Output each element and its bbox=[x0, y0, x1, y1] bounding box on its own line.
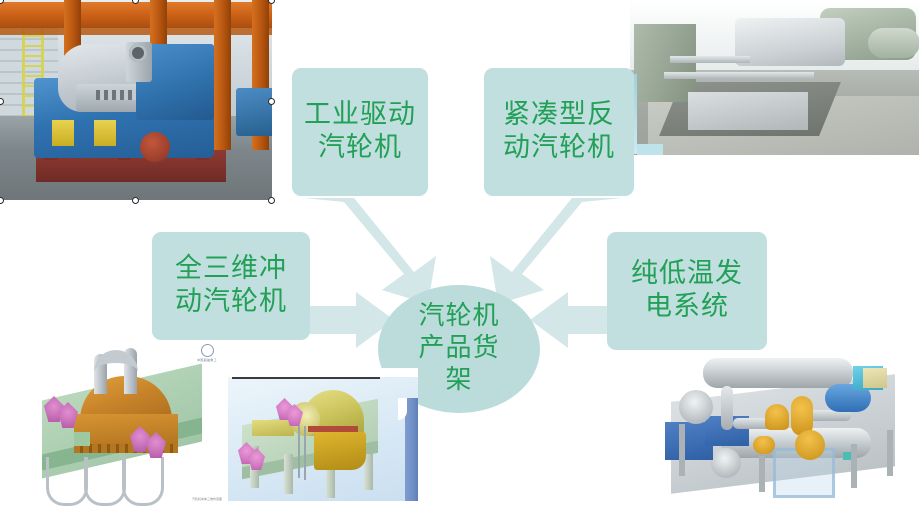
yellow-jack bbox=[94, 120, 116, 146]
cad-top-margin bbox=[228, 368, 418, 377]
slide-accent-band bbox=[405, 398, 418, 506]
image-waste-heat-skid-cad[interactable] bbox=[647, 352, 919, 506]
label-box-low-temperature-power-system[interactable]: 纯低温发 电系统 bbox=[607, 232, 767, 350]
cad-u-pipe bbox=[46, 457, 88, 506]
selection-handle[interactable] bbox=[268, 98, 275, 105]
label-box-full-3d-impulse-turbine[interactable]: 全三维冲 动汽轮机 bbox=[152, 232, 310, 340]
cad-caption: 汽轮机本体三维布置图 bbox=[192, 497, 222, 501]
selection-handle[interactable] bbox=[132, 197, 139, 204]
image-turbine-piping-cad[interactable]: 中国船舶重工 汽轮机本体三维布置图 bbox=[18, 340, 228, 506]
vessel-end-cap bbox=[679, 390, 713, 424]
selection-handle[interactable] bbox=[268, 0, 275, 4]
selection-handle[interactable] bbox=[0, 197, 4, 204]
yellow-jack bbox=[52, 120, 74, 146]
company-logo: 中国船舶重工 bbox=[192, 344, 222, 364]
steam-pipe bbox=[664, 72, 814, 79]
auxiliary-skid bbox=[688, 92, 808, 130]
background-turbine bbox=[236, 88, 272, 136]
cream-terminal-box bbox=[863, 368, 887, 388]
cad-rod bbox=[304, 426, 306, 480]
logo-text: 中国船舶重工 bbox=[192, 358, 222, 362]
skid-vessel bbox=[703, 358, 853, 388]
red-handwheel bbox=[140, 132, 170, 162]
center-label-text: 汽轮机 产品货 架 bbox=[418, 301, 499, 396]
cad-yellow-module bbox=[252, 420, 294, 436]
generator-exciter bbox=[868, 28, 919, 58]
gantry-crane-beam bbox=[0, 2, 272, 28]
image-turbine-foundation-cad[interactable] bbox=[228, 368, 418, 506]
gold-valve bbox=[795, 430, 825, 460]
control-building bbox=[634, 24, 696, 102]
flange-bore bbox=[129, 44, 147, 62]
skid-leg bbox=[679, 424, 685, 476]
gantry-column bbox=[214, 0, 231, 150]
gold-valve bbox=[753, 436, 775, 454]
label-text: 全三维冲 动汽轮机 bbox=[175, 253, 287, 319]
turbine-casing bbox=[735, 18, 845, 66]
label-box-compact-reaction-turbine[interactable]: 紧凑型反 动汽轮机 bbox=[484, 68, 634, 196]
cad-green-module bbox=[74, 432, 90, 446]
cad-divider-rule bbox=[232, 377, 380, 379]
cad-u-pipe bbox=[122, 457, 164, 506]
label-text: 紧凑型反 动汽轮机 bbox=[503, 99, 615, 165]
image-factory-turbine-photo[interactable] bbox=[0, 0, 272, 200]
logo-mark-icon bbox=[201, 344, 214, 357]
cad-turbine-pedestal bbox=[314, 432, 366, 470]
label-text: 工业驱动 汽轮机 bbox=[304, 99, 416, 165]
cad-u-pipe bbox=[84, 457, 126, 506]
selection-handle[interactable] bbox=[268, 197, 275, 204]
slide-accent-block bbox=[637, 144, 663, 155]
steam-pipe bbox=[670, 56, 750, 63]
cad-column bbox=[284, 454, 293, 494]
label-text: 纯低温发 电系统 bbox=[631, 258, 743, 324]
gold-valve bbox=[765, 404, 789, 430]
skid-leg bbox=[851, 444, 857, 488]
slide-canvas: 工业驱动 汽轮机 紧凑型反 动汽轮机 全三维冲 动汽轮机 纯低温发 电系统 汽轮… bbox=[0, 0, 919, 506]
vessel-end-cap bbox=[711, 448, 741, 478]
cad-bottom-margin bbox=[228, 501, 418, 506]
skid-pipe bbox=[721, 386, 733, 430]
cad-rod bbox=[298, 426, 300, 478]
label-box-industrial-drive-turbine[interactable]: 工业驱动 汽轮机 bbox=[292, 68, 428, 196]
skid-leg bbox=[759, 456, 765, 492]
skid-leg bbox=[887, 430, 893, 476]
gantry-crane-rail bbox=[0, 28, 272, 35]
image-plant-3d-render[interactable] bbox=[630, 0, 919, 155]
